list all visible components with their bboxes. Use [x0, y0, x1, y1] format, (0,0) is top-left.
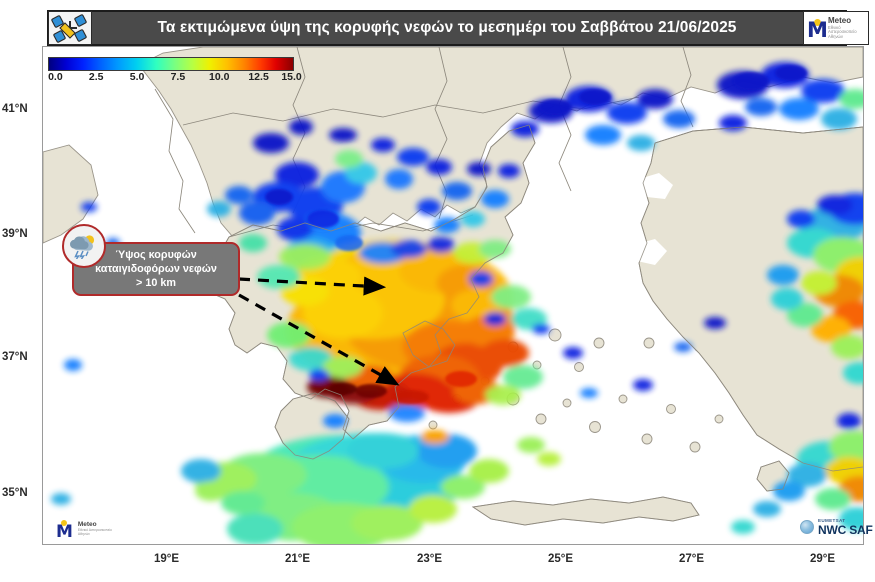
- colorbar-tick: 2.5: [89, 71, 104, 83]
- colorbar: 0.0 2.5 5.0 7.5 10.0 12.5 15.0: [48, 57, 294, 85]
- x-axis-tick-21e: 21°E: [285, 553, 310, 565]
- nwcsaf-label: NWC SAF: [818, 524, 873, 536]
- colorbar-tick: 7.5: [171, 71, 186, 83]
- x-axis-tick-25e: 25°E: [548, 553, 573, 565]
- callout-line-3: > 10 km: [136, 276, 176, 290]
- meteo-logo-header: M Meteo Εθνικό Αστεροσκοπείο Αθηνών: [803, 11, 869, 45]
- colorbar-tick: 0.0: [48, 71, 63, 83]
- colorbar-tick: 12.5: [248, 71, 268, 83]
- x-axis-tick-19e: 19°E: [154, 553, 179, 565]
- colorbar-tick: 5.0: [130, 71, 145, 83]
- colorbar-tick: 15.0: [281, 71, 301, 83]
- nwcsaf-logo: EUMETSAT NWC SAF: [800, 519, 873, 536]
- colorbar-tick: 10.0: [209, 71, 229, 83]
- x-axis-tick-29e: 29°E: [810, 553, 835, 565]
- weather-map-figure: SAF v2021 Cloud Top Height [Km] Date: 21…: [0, 0, 875, 582]
- x-axis-tick-23e: 23°E: [417, 553, 442, 565]
- meteo-footer-sub: Εθνικό Αστεροσκοπείο Αθηνών: [78, 529, 118, 536]
- y-axis-tick-39n: 39°N: [2, 228, 28, 240]
- satellite-logo: [48, 11, 92, 45]
- meteo-wordmark: Meteo: [828, 17, 868, 25]
- globe-icon: [800, 520, 814, 534]
- thunderstorm-cloud-icon: [62, 224, 106, 268]
- title-bar: Τα εκτιμώμενα ύψη της κορυφής νεφών το μ…: [47, 10, 847, 46]
- meteo-subtitle: Εθνικό Αστεροσκοπείο Αθηνών: [828, 26, 868, 39]
- page-title: Τα εκτιμώμενα ύψη της κορυφής νεφών το μ…: [49, 19, 845, 37]
- meteo-logo-footer: M Meteo Εθνικό Αστεροσκοπείο Αθηνών: [56, 517, 118, 541]
- callout-line-2: καταιγιδοφόρων νεφών: [95, 262, 217, 276]
- colorbar-ticks: 0.0 2.5 5.0 7.5 10.0 12.5 15.0: [48, 71, 294, 85]
- y-axis-tick-37n: 37°N: [2, 351, 28, 363]
- colorbar-gradient: [48, 57, 294, 71]
- callout-line-1: Ύψος κορυφών: [115, 248, 196, 262]
- y-axis-tick-35n: 35°N: [2, 487, 28, 499]
- y-axis-tick-41n: 41°N: [2, 103, 28, 115]
- x-axis-tick-27e: 27°E: [679, 553, 704, 565]
